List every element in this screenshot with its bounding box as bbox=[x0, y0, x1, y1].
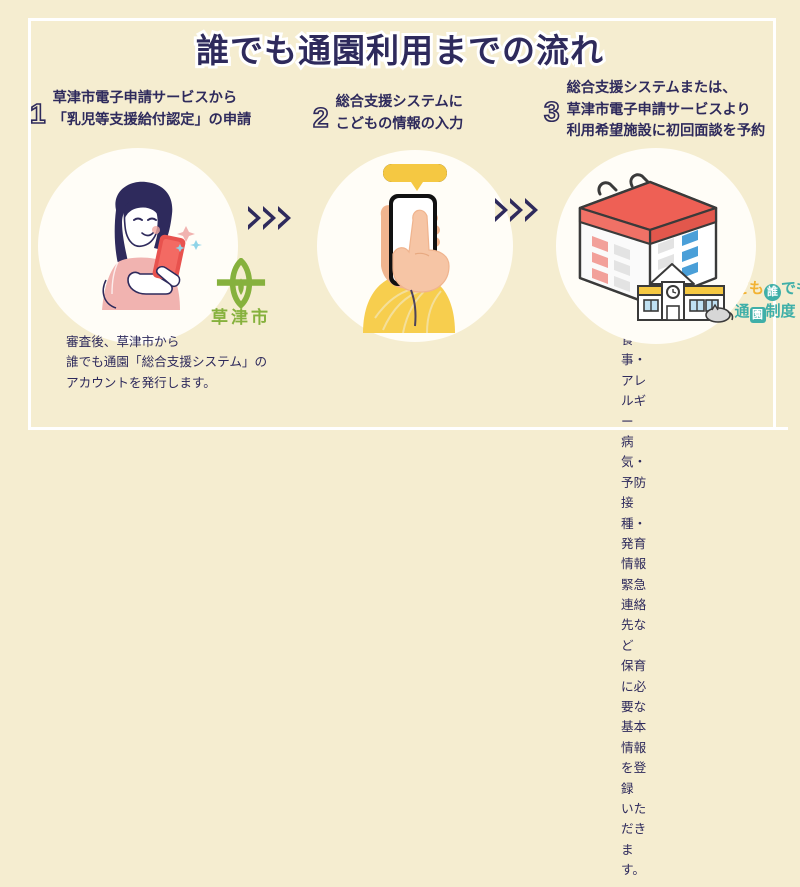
step-1-column: 1 草津市電子申請サービスから 「乳児等支援給付認定」の申請 bbox=[18, 0, 283, 450]
arrow-group-1 bbox=[248, 206, 291, 230]
step-3-column: 3 総合支援システムまたは、 草津市電子申請サービスより 利用希望施設に初回面談… bbox=[538, 0, 793, 450]
arrow-group-2 bbox=[495, 198, 538, 222]
hand-tapping-smartphone-illustration bbox=[345, 158, 490, 333]
step-2-column: 2 総合支援システムに こどもの情報の入力 bbox=[305, 0, 535, 450]
step-1-heading-line1: 草津市電子申請サービスから bbox=[53, 88, 252, 110]
step-2-heading-text: 総合支援システムに こどもの情報の入力 bbox=[336, 92, 464, 135]
step-1-heading: 1 草津市電子申請サービスから 「乳児等支援給付認定」の申請 bbox=[30, 88, 251, 131]
chevron-right-icon bbox=[495, 198, 508, 222]
step-3-heading-text: 総合支援システムまたは、 草津市電子申請サービスより 利用希望施設に初回面談を予… bbox=[567, 78, 766, 143]
step-2-heading: 2 総合支援システムに こどもの情報の入力 bbox=[313, 92, 463, 135]
step-1-heading-text: 草津市電子申請サービスから 「乳児等支援給付認定」の申請 bbox=[53, 88, 252, 131]
step-2-heading-line2: こどもの情報の入力 bbox=[336, 114, 464, 136]
step-3-heading-line2: 草津市電子申請サービスより bbox=[567, 100, 766, 122]
chevron-right-icon bbox=[263, 206, 276, 230]
chevron-right-icon bbox=[510, 198, 523, 222]
kusatsu-city-name: 草津市 bbox=[196, 309, 286, 326]
infographic-poster: 誰でも通園利用までの流れ 1 草津市電子申請サービスから 「乳児等支援給付認定」… bbox=[0, 0, 800, 450]
step-1-body-text: 審査後、草津市から 誰でも通園「総合支援システム」の アカウントを発行します。 bbox=[66, 332, 267, 393]
kusatsu-city-logo: 草津市 bbox=[196, 258, 286, 326]
step-3-heading: 3 総合支援システムまたは、 草津市電子申請サービスより 利用希望施設に初回面談… bbox=[544, 78, 765, 143]
step-3-heading-line3: 利用希望施設に初回面談を予約 bbox=[567, 121, 766, 143]
chevron-right-icon bbox=[525, 198, 538, 222]
step-3-heading-line1: 総合支援システムまたは、 bbox=[567, 78, 766, 100]
calendar-and-school-building-illustration bbox=[566, 160, 751, 335]
step-2-heading-line1: 総合支援システムに bbox=[336, 92, 464, 114]
step-1-heading-line2: 「乳児等支援給付認定」の申請 bbox=[53, 110, 252, 132]
step-3-number: 3 bbox=[544, 78, 560, 126]
chevron-right-icon bbox=[278, 206, 291, 230]
step-2-number: 2 bbox=[313, 92, 329, 132]
step-1-number: 1 bbox=[30, 88, 46, 128]
chevron-right-icon bbox=[248, 206, 261, 230]
kusatsu-city-emblem-icon bbox=[213, 258, 269, 308]
